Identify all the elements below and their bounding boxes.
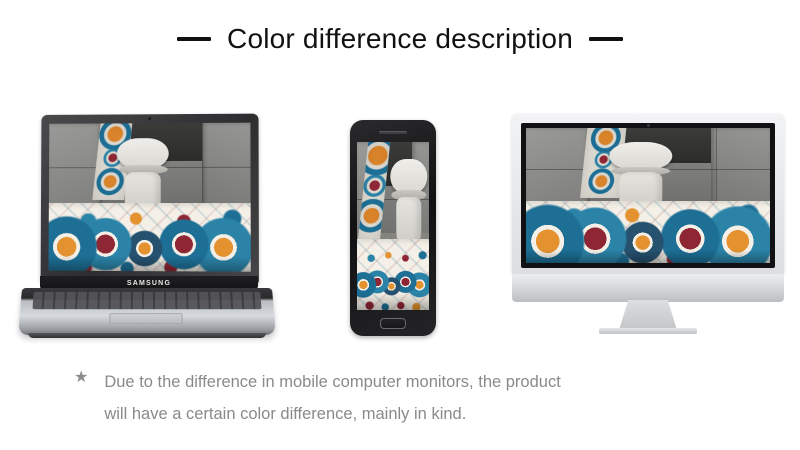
disclaimer-note: ★ Due to the difference in mobile comput… <box>74 366 734 430</box>
laptop-lid <box>41 114 259 283</box>
title-dash-right <box>589 37 623 41</box>
page-title: Color difference description <box>227 24 573 55</box>
monitor-stand-neck <box>619 300 677 330</box>
photo-left-wall <box>49 124 101 215</box>
laptop-device: SAMSUNG <box>22 114 272 339</box>
laptop-base <box>18 288 276 335</box>
title-dash-left <box>177 37 211 41</box>
product-photo <box>357 142 429 310</box>
disclaimer-text: Due to the difference in mobile computer… <box>104 366 560 430</box>
laptop-keyboard[interactable] <box>32 292 261 309</box>
product-photo <box>49 123 251 272</box>
laptop-brand-label: SAMSUNG <box>127 280 171 287</box>
toilet-lid <box>117 138 169 169</box>
device-showcase: SAMSUNG <box>0 110 800 345</box>
color-difference-page: Color difference description <box>0 0 800 450</box>
webcam-icon <box>647 124 650 127</box>
monitor-frame <box>512 114 784 274</box>
product-photo <box>526 128 770 263</box>
desktop-monitor-device <box>512 114 784 340</box>
photo-floor-shadow <box>357 293 429 310</box>
disclaimer-line-1: Due to the difference in mobile computer… <box>104 366 560 398</box>
phone-screen <box>357 142 429 310</box>
photo-left-wall <box>526 128 589 212</box>
monitor-bezel <box>521 123 775 268</box>
photo-grout-line <box>716 128 717 212</box>
photo-floor-shadow <box>526 250 770 264</box>
star-icon: ★ <box>74 366 88 391</box>
webcam-icon <box>148 117 151 120</box>
page-title-row: Color difference description <box>0 24 800 55</box>
toilet-lid <box>390 159 427 194</box>
phone-earpiece-icon <box>379 131 407 134</box>
laptop-screen <box>49 123 251 272</box>
laptop-front-edge <box>28 333 266 338</box>
monitor-screen <box>526 128 770 263</box>
monitor-chin <box>512 274 784 302</box>
laptop-touchpad[interactable] <box>109 313 183 324</box>
smartphone-device <box>350 120 436 336</box>
photo-floor-shadow <box>49 256 251 272</box>
disclaimer-line-2: will have a certain color difference, ma… <box>104 398 560 430</box>
phone-home-button[interactable] <box>380 318 406 329</box>
monitor-stand-base <box>599 328 697 334</box>
photo-grout-line <box>202 123 203 215</box>
